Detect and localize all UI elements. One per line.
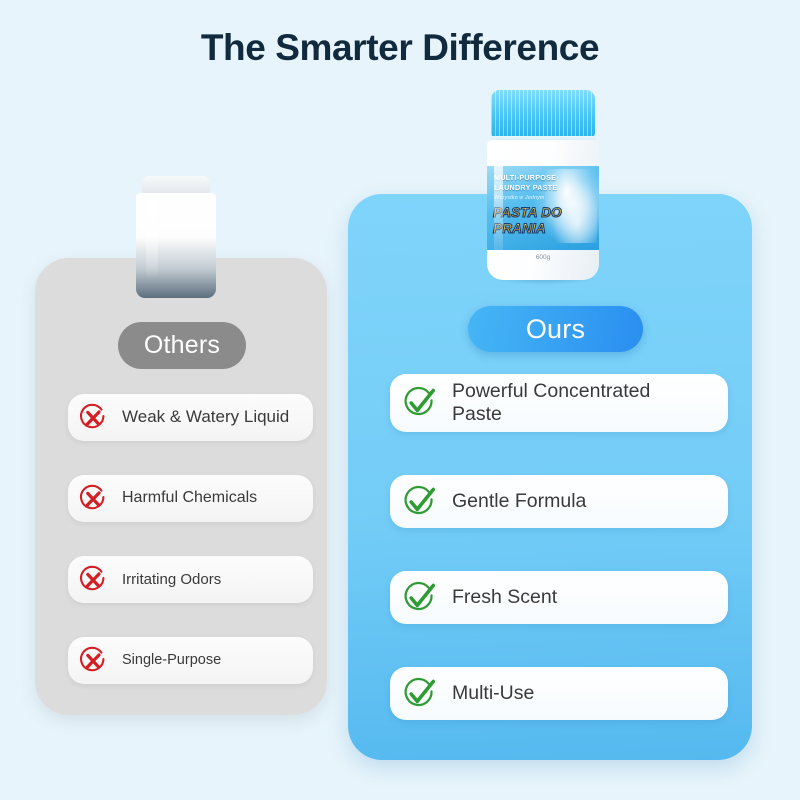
green-check-circle-icon <box>400 579 452 617</box>
list-item-label: Multi-Use <box>452 682 534 705</box>
others-badge-label: Others <box>144 331 220 360</box>
product-label: MULTI-PURPOSE LAUNDRY PASTE Wszystko w J… <box>487 166 599 250</box>
competitor-jar-highlight <box>146 200 158 280</box>
list-item-label: Weak & Watery Liquid <box>122 407 289 427</box>
product-weight: 600g <box>487 254 599 261</box>
competitor-jar-lid <box>142 176 210 194</box>
green-check-circle-icon <box>400 675 452 713</box>
ours-feature-list: Powerful Concentrated Paste Gentle Formu… <box>390 374 728 763</box>
list-item: Powerful Concentrated Paste <box>390 374 728 432</box>
product-label-line2: LAUNDRY PASTE <box>494 183 557 192</box>
list-item: Multi-Use <box>390 667 728 720</box>
product-label-line1: MULTI-PURPOSE <box>494 173 556 182</box>
list-item: Irritating Odors <box>68 556 313 603</box>
product-jar-body: MULTI-PURPOSE LAUNDRY PASTE Wszystko w J… <box>487 140 599 280</box>
page-title: The Smarter Difference <box>0 27 800 69</box>
ours-badge: Ours <box>468 306 643 352</box>
list-item: Single-Purpose <box>68 637 313 684</box>
product-jar-cap <box>491 90 595 138</box>
list-item: Fresh Scent <box>390 571 728 624</box>
list-item-label: Harmful Chemicals <box>122 489 257 508</box>
list-item: Harmful Chemicals <box>68 475 313 522</box>
competitor-product-jar <box>136 176 216 298</box>
list-item-label: Single-Purpose <box>122 652 221 669</box>
product-brand-line1: PASTA DO <box>493 205 562 220</box>
ours-badge-label: Ours <box>526 314 585 345</box>
list-item-label: Fresh Scent <box>452 586 557 609</box>
red-x-circle-icon <box>77 483 122 515</box>
list-item-label: Powerful Concentrated Paste <box>452 380 650 426</box>
red-x-circle-icon <box>77 645 122 677</box>
comparison-infographic: The Smarter Difference Others Weak & Wat… <box>0 0 800 800</box>
list-item-label: Gentle Formula <box>452 490 586 513</box>
green-check-circle-icon <box>400 483 452 521</box>
others-badge: Others <box>118 322 246 369</box>
list-item-label: Irritating Odors <box>122 571 221 589</box>
red-x-circle-icon <box>77 564 122 596</box>
list-item: Weak & Watery Liquid <box>68 394 313 441</box>
green-check-circle-icon <box>400 384 452 422</box>
product-jar-highlight <box>494 146 503 266</box>
red-x-circle-icon <box>77 402 122 434</box>
others-feature-list: Weak & Watery Liquid Harmful Chemicals <box>68 394 313 718</box>
product-jar: MULTI-PURPOSE LAUNDRY PASTE Wszystko w J… <box>487 90 599 280</box>
list-item: Gentle Formula <box>390 475 728 528</box>
